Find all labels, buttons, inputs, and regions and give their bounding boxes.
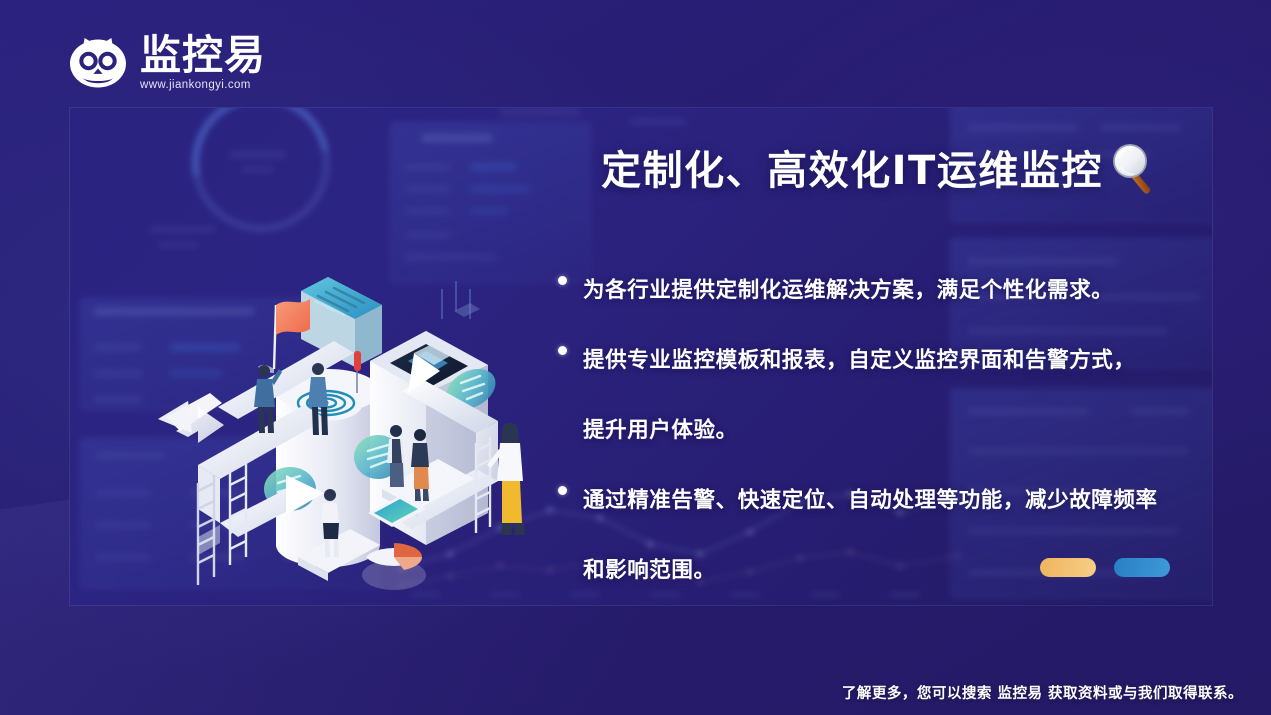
- content-panel: 定制化、高效化IT运维监控: [70, 108, 1212, 605]
- bullet-dot-icon: [558, 486, 567, 495]
- bullet-text: 提供专业监控模板和报表，自定义监控界面和告警方式，: [583, 332, 1136, 390]
- pill-button-group: [1040, 558, 1170, 577]
- blue-pill-button[interactable]: [1114, 558, 1170, 577]
- brand-logo: 监控易 www.jiankongyi.com: [66, 33, 266, 92]
- presentation-slide: 监控易 www.jiankongyi.com: [0, 0, 1271, 715]
- bullet-dot-icon: [558, 346, 567, 355]
- slide-title-row: 定制化、高效化IT运维监控: [574, 134, 1190, 200]
- copy-column: 定制化、高效化IT运维监控: [540, 134, 1190, 604]
- bullet-dot-icon: [558, 276, 567, 285]
- bullet-text: 为各行业提供定制化运维解决方案，满足个性化需求。: [583, 262, 1113, 320]
- list-item: 为各行业提供定制化运维解决方案，满足个性化需求。: [558, 262, 1190, 320]
- brand-url: www.jiankongyi.com: [140, 78, 251, 92]
- isometric-data-center-illustration: [158, 193, 548, 593]
- amber-pill-button[interactable]: [1040, 558, 1096, 577]
- bullet-text: 通过精准告警、快速定位、自动处理等功能，减少故障频率: [583, 472, 1158, 530]
- brand-name: 监控易: [140, 33, 266, 77]
- bullet-text: 提升用户体验。: [583, 402, 738, 460]
- bullet-text: 和影响范围。: [583, 542, 716, 600]
- list-item: 通过精准告警、快速定位、自动处理等功能，减少故障频率: [558, 472, 1190, 530]
- bullet-list: 为各行业提供定制化运维解决方案，满足个性化需求。 提供专业监控模板和报表，自定义…: [540, 262, 1190, 600]
- owl-mascot-icon: [66, 37, 130, 92]
- list-item-continuation: 提升用户体验。: [558, 402, 1190, 460]
- page-title: 定制化、高效化IT运维监控: [601, 138, 1103, 196]
- list-item: 提供专业监控模板和报表，自定义监控界面和告警方式，: [558, 332, 1190, 390]
- magnifying-glass-icon: [1105, 139, 1163, 197]
- footer-note: 了解更多，您可以搜索 监控易 获取资料或与我们取得联系。: [842, 682, 1243, 703]
